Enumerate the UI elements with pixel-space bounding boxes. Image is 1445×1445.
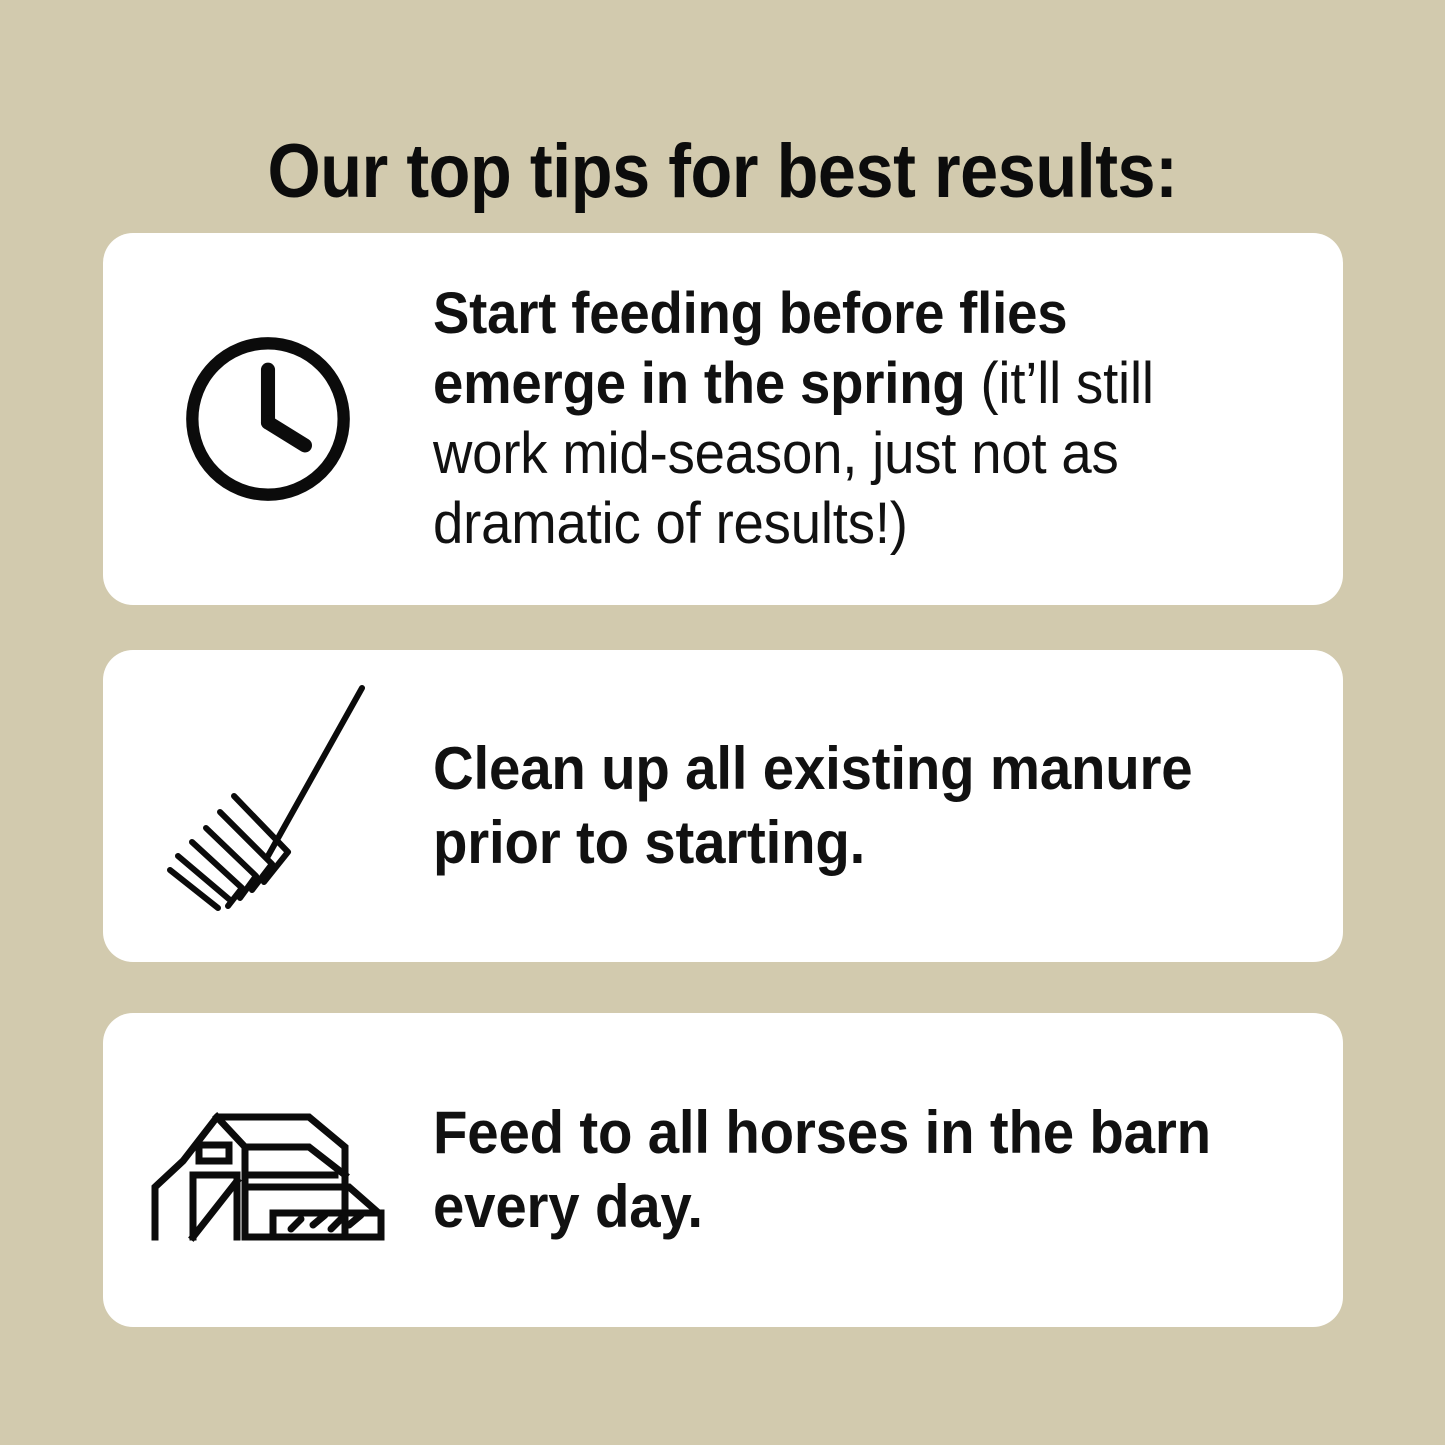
- barn-icon: [149, 1095, 387, 1245]
- tip-card-3-bold: Feed to all horses in the barn every day…: [433, 1099, 1211, 1240]
- tip-card-2-text-slot: Clean up all existing manure prior to st…: [433, 732, 1343, 880]
- tip-card-2-bold: Clean up all existing manure prior to st…: [433, 735, 1192, 876]
- tip-card-2-icon-slot: [103, 650, 433, 962]
- tip-card-1: Start feeding before flies emerge in the…: [103, 233, 1343, 605]
- tip-card-1-text-slot: Start feeding before flies emerge in the…: [433, 279, 1343, 559]
- clock-icon: [180, 331, 356, 507]
- tip-card-1-text: Start feeding before flies emerge in the…: [433, 279, 1232, 559]
- tip-card-1-icon-slot: [103, 233, 433, 605]
- tip-card-3-text: Feed to all horses in the barn every day…: [433, 1096, 1232, 1244]
- tips-infographic: Our top tips for best results: Start fee…: [0, 0, 1445, 1445]
- tip-card-2-text: Clean up all existing manure prior to st…: [433, 732, 1232, 880]
- pitchfork-icon: [156, 676, 376, 914]
- page-title: Our top tips for best results:: [72, 129, 1373, 215]
- tip-card-3-text-slot: Feed to all horses in the barn every day…: [433, 1096, 1343, 1244]
- tip-card-2: Clean up all existing manure prior to st…: [103, 650, 1343, 962]
- tip-card-3-icon-slot: [103, 1013, 433, 1327]
- tip-card-3: Feed to all horses in the barn every day…: [103, 1013, 1343, 1327]
